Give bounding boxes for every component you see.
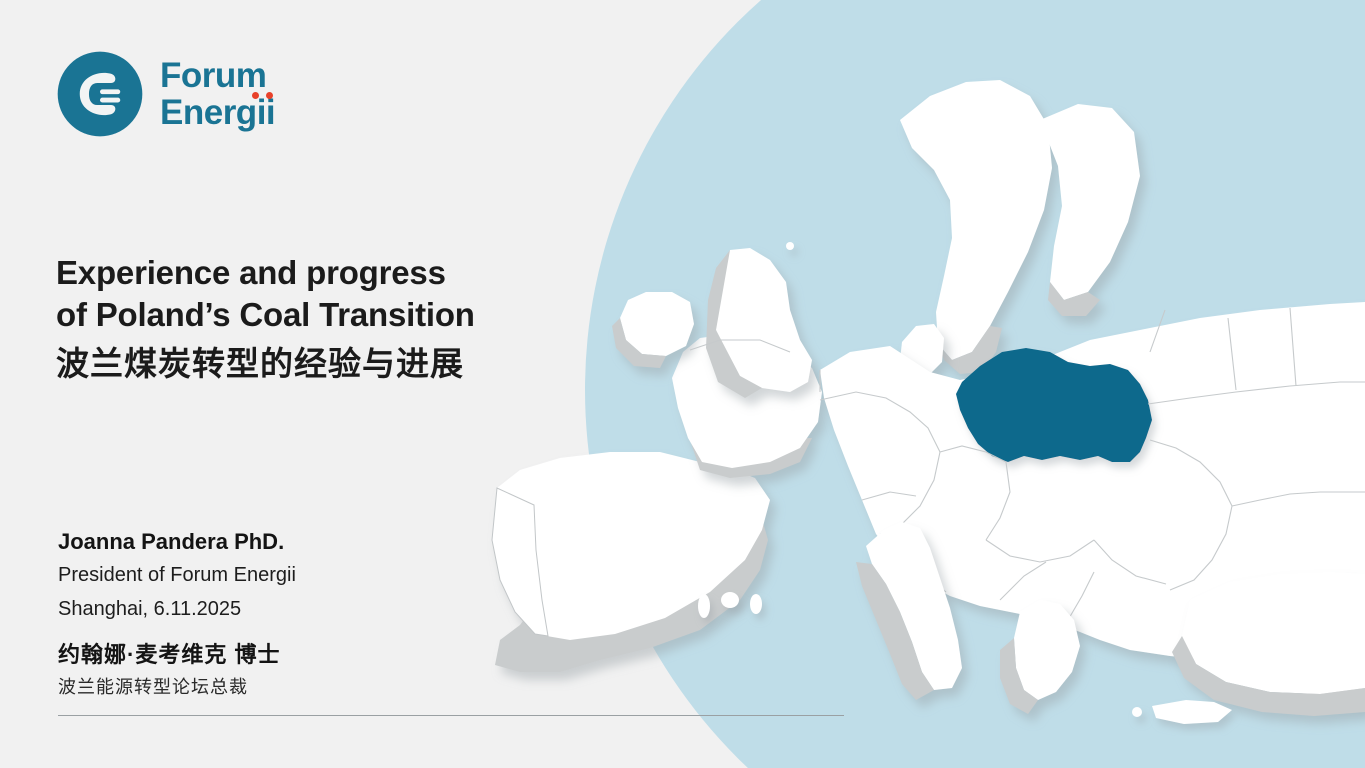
- speaker-name-chinese: 约翰娜·麦考维克 博士: [58, 638, 618, 672]
- presentation-slide: Forum Energii Experience and progress of…: [0, 0, 1365, 768]
- logo-wordmark: Forum Energii: [160, 57, 275, 131]
- logo-line-energii: Energii: [160, 94, 275, 131]
- title-line-chinese: 波兰煤炭转型的经验与进展: [56, 340, 616, 388]
- speaker-role: President of Forum Energii: [58, 558, 618, 592]
- title-line-1: Experience and progress: [56, 252, 616, 294]
- title-line-2: of Poland’s Coal Transition: [56, 294, 616, 336]
- footer-divider: [58, 715, 844, 716]
- logo-line-forum: Forum: [160, 57, 275, 94]
- speaker-role-chinese: 波兰能源转型论坛总裁: [58, 672, 618, 702]
- forum-energii-logo: Forum Energii: [54, 48, 275, 140]
- speaker-info: Joanna Pandera PhD. President of Forum E…: [58, 526, 618, 702]
- logo-line-energii-text: Energii: [160, 93, 275, 132]
- speaker-name: Joanna Pandera PhD.: [58, 526, 618, 558]
- slide-title: Experience and progress of Poland’s Coal…: [56, 252, 616, 388]
- forum-energii-circle-e-icon: [54, 48, 146, 140]
- speaker-place-date: Shanghai, 6.11.2025: [58, 592, 618, 626]
